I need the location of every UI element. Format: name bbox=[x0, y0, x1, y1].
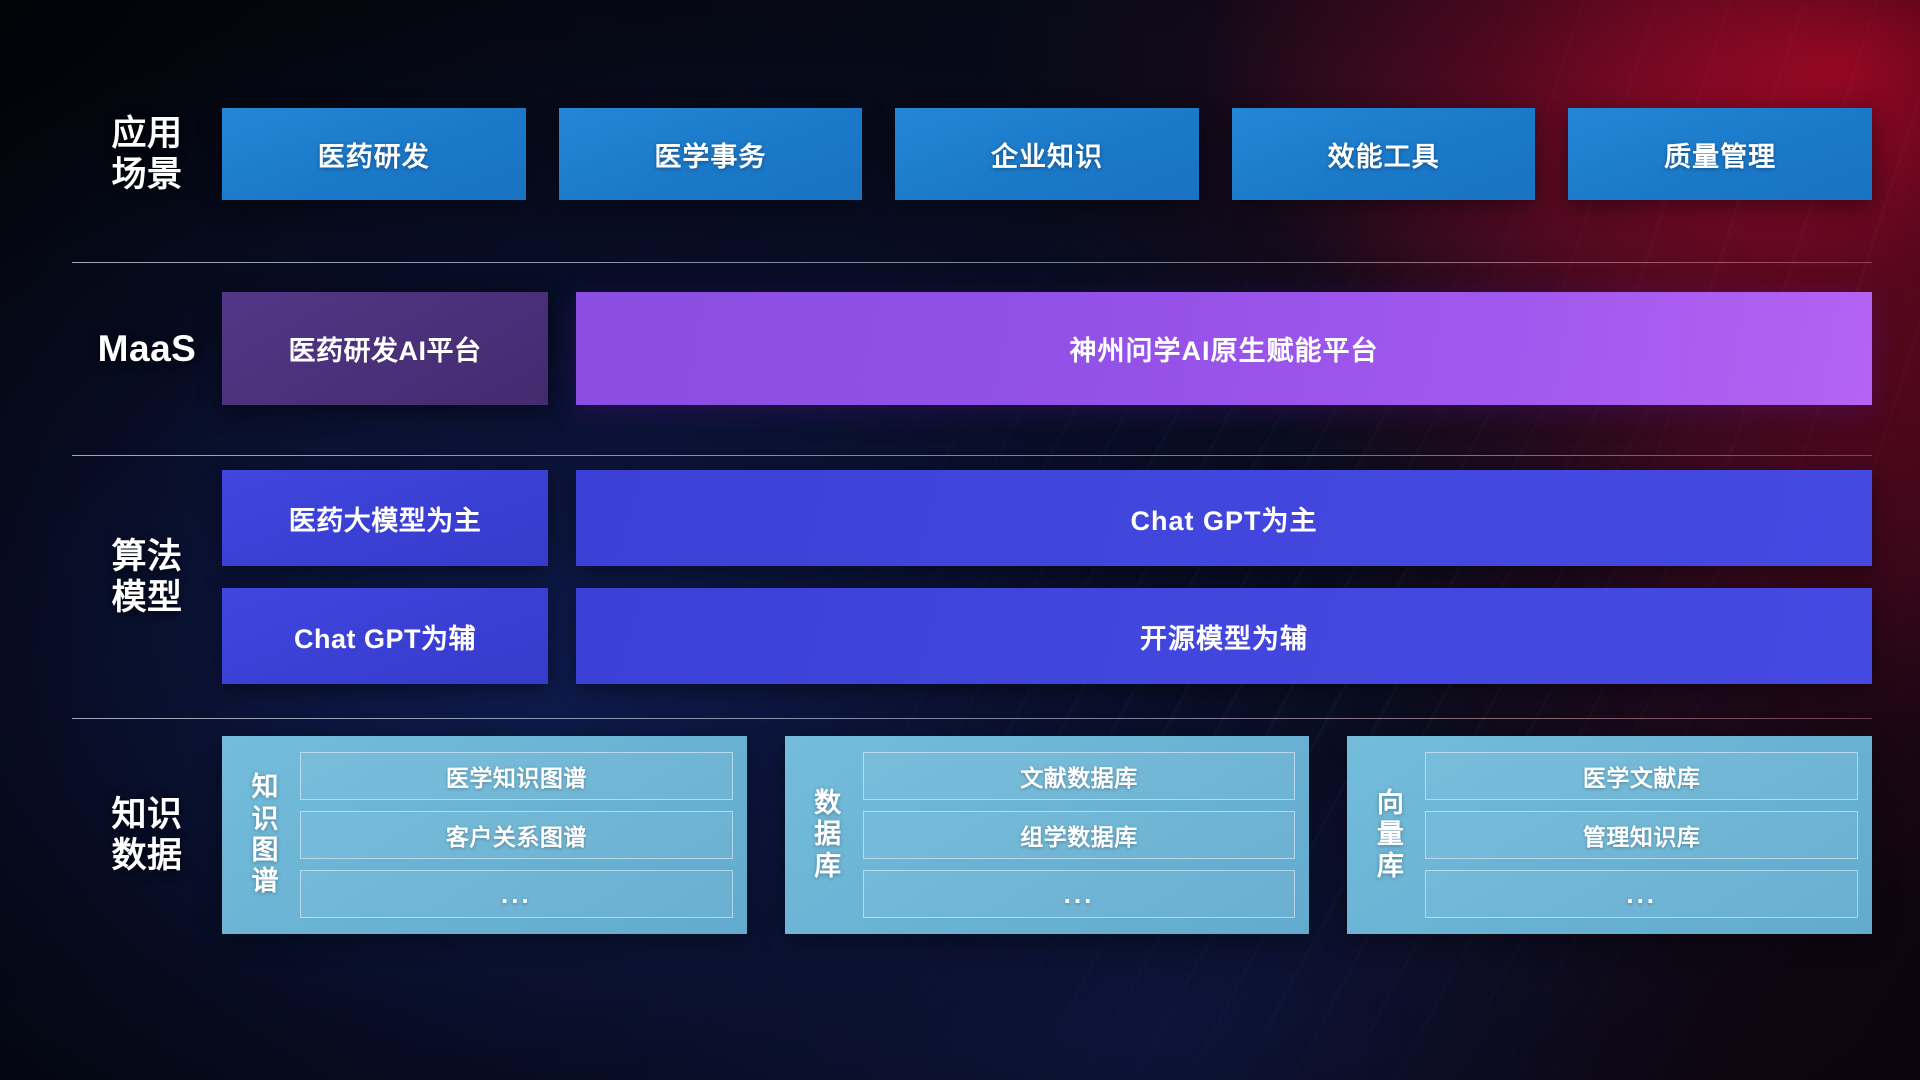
algorithm-row-secondary: Chat GPT为辅 开源模型为辅 bbox=[222, 588, 1872, 684]
divider-algorithm-knowledge bbox=[72, 718, 1872, 719]
algo-box-chatgpt-secondary[interactable]: Chat GPT为辅 bbox=[222, 588, 548, 684]
tier-algorithm-model: 算法 模型 医药大模型为主 Chat GPT为主 Chat GPT为辅 开源模型… bbox=[72, 470, 1872, 684]
vlabel-char: 量 bbox=[1377, 819, 1404, 850]
vlabel-char: 库 bbox=[1377, 851, 1404, 882]
algo-box-chatgpt-primary[interactable]: Chat GPT为主 bbox=[576, 470, 1872, 566]
knowledge-panel-label-knowledge-graph: 知 识 图 谱 bbox=[236, 748, 294, 922]
knowledge-item-literature-database[interactable]: 文献数据库 bbox=[863, 752, 1296, 800]
knowledge-item-list: 文献数据库 组学数据库 ... bbox=[857, 748, 1296, 922]
knowledge-item-more-vector[interactable]: ... bbox=[1425, 870, 1858, 918]
tier-knowledge-data: 知识 数据 知 识 图 谱 医学知识图谱 客户关系图谱 ... bbox=[72, 736, 1872, 934]
knowledge-item-more-graph[interactable]: ... bbox=[300, 870, 733, 918]
vlabel-char: 图 bbox=[252, 835, 279, 866]
architecture-diagram: 应用 场景 医药研发 医学事务 企业知识 效能工具 质量管理 MaaS 医药研发… bbox=[0, 0, 1920, 1080]
algo-box-pharma-llm-primary[interactable]: 医药大模型为主 bbox=[222, 470, 548, 566]
app-box-enterprise-knowledge[interactable]: 企业知识 bbox=[895, 108, 1199, 200]
divider-maas-algorithm bbox=[72, 455, 1872, 456]
app-box-efficiency-tools[interactable]: 效能工具 bbox=[1232, 108, 1536, 200]
tier-label-algorithm-line2: 模型 bbox=[72, 577, 222, 618]
tier-label-maas: MaaS bbox=[72, 327, 222, 371]
app-box-quality-management[interactable]: 质量管理 bbox=[1568, 108, 1872, 200]
vlabel-char: 数 bbox=[814, 788, 841, 819]
tier-label-application-line1: 应用 bbox=[72, 113, 222, 154]
application-box-group: 医药研发 医学事务 企业知识 效能工具 质量管理 bbox=[222, 108, 1872, 200]
knowledge-panel-knowledge-graph[interactable]: 知 识 图 谱 医学知识图谱 客户关系图谱 ... bbox=[222, 736, 747, 934]
maas-box-group: 医药研发AI平台 神州问学AI原生赋能平台 bbox=[222, 292, 1872, 405]
knowledge-item-management-knowledge-store[interactable]: 管理知识库 bbox=[1425, 811, 1858, 859]
tier-application-scenarios: 应用 场景 医药研发 医学事务 企业知识 效能工具 质量管理 bbox=[72, 108, 1872, 200]
algorithm-rows: 医药大模型为主 Chat GPT为主 Chat GPT为辅 开源模型为辅 bbox=[222, 470, 1872, 684]
knowledge-item-omics-database[interactable]: 组学数据库 bbox=[863, 811, 1296, 859]
tier-label-application-line2: 场景 bbox=[72, 154, 222, 195]
knowledge-item-list: 医学文献库 管理知识库 ... bbox=[1419, 748, 1858, 922]
maas-box-shenzhou-wenxue-platform[interactable]: 神州问学AI原生赋能平台 bbox=[576, 292, 1872, 405]
algorithm-row-primary: 医药大模型为主 Chat GPT为主 bbox=[222, 470, 1872, 566]
knowledge-panel-label-database: 数 据 库 bbox=[799, 748, 857, 922]
knowledge-item-more-database[interactable]: ... bbox=[863, 870, 1296, 918]
knowledge-column-group: 知 识 图 谱 医学知识图谱 客户关系图谱 ... 数 据 库 bbox=[222, 736, 1872, 934]
knowledge-panel-vector-store[interactable]: 向 量 库 医学文献库 管理知识库 ... bbox=[1347, 736, 1872, 934]
tier-label-algorithm: 算法 模型 bbox=[72, 536, 222, 619]
knowledge-panel-label-vector-store: 向 量 库 bbox=[1361, 748, 1419, 922]
knowledge-item-medical-literature-store[interactable]: 医学文献库 bbox=[1425, 752, 1858, 800]
app-box-medical-affairs[interactable]: 医学事务 bbox=[559, 108, 863, 200]
knowledge-item-customer-relation-graph[interactable]: 客户关系图谱 bbox=[300, 811, 733, 859]
tier-label-application: 应用 场景 bbox=[72, 113, 222, 196]
vlabel-char: 知 bbox=[252, 772, 279, 803]
vlabel-char: 谱 bbox=[252, 866, 279, 897]
vlabel-char: 库 bbox=[814, 851, 841, 882]
knowledge-item-list: 医学知识图谱 客户关系图谱 ... bbox=[294, 748, 733, 922]
maas-box-pharma-ai-platform[interactable]: 医药研发AI平台 bbox=[222, 292, 548, 405]
tier-label-knowledge: 知识 数据 bbox=[72, 794, 222, 877]
vlabel-char: 识 bbox=[252, 804, 279, 835]
vlabel-char: 向 bbox=[1377, 788, 1404, 819]
knowledge-item-medical-knowledge-graph[interactable]: 医学知识图谱 bbox=[300, 752, 733, 800]
tier-maas: MaaS 医药研发AI平台 神州问学AI原生赋能平台 bbox=[72, 292, 1872, 405]
knowledge-panel-database[interactable]: 数 据 库 文献数据库 组学数据库 ... bbox=[785, 736, 1310, 934]
tier-label-knowledge-line1: 知识 bbox=[72, 794, 222, 835]
algo-box-opensource-secondary[interactable]: 开源模型为辅 bbox=[576, 588, 1872, 684]
divider-application-maas bbox=[72, 262, 1872, 263]
tier-label-knowledge-line2: 数据 bbox=[72, 835, 222, 876]
vlabel-char: 据 bbox=[814, 819, 841, 850]
app-box-pharma-rd[interactable]: 医药研发 bbox=[222, 108, 526, 200]
tier-label-algorithm-line1: 算法 bbox=[72, 536, 222, 577]
